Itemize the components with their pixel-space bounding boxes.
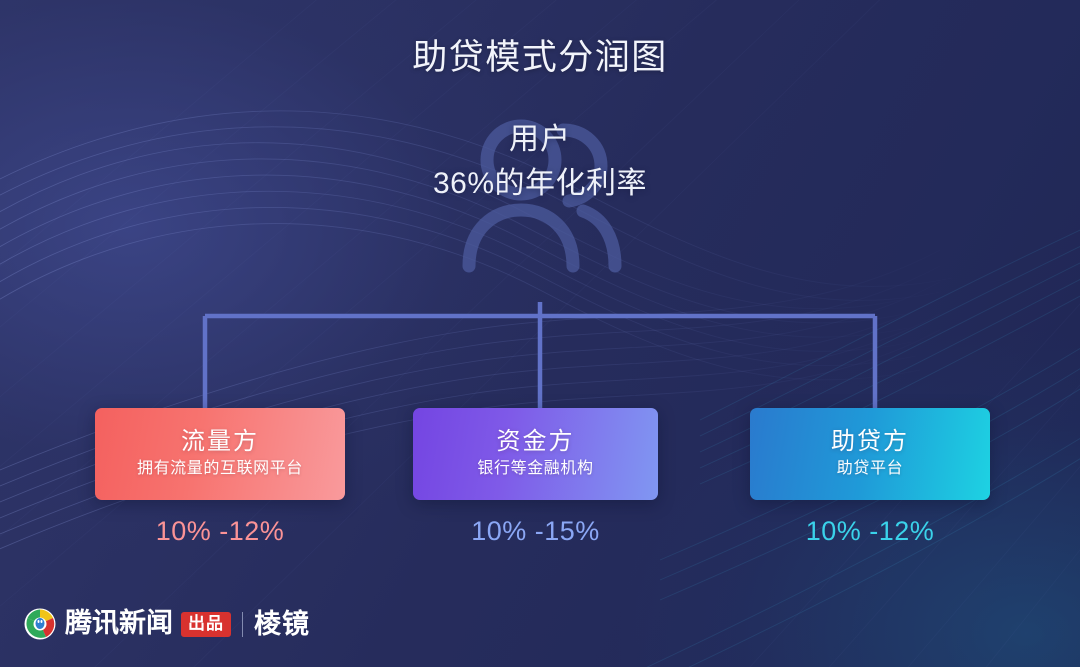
- node-subtitle: 助贷平台: [837, 457, 903, 481]
- user-node: 用户 36%的年化利率: [0, 118, 1080, 206]
- node-share: 10% -12%: [95, 516, 345, 547]
- node-subtitle: 拥有流量的互联网平台: [137, 457, 303, 481]
- node-title: 助贷方: [831, 427, 909, 457]
- footer-branding: 腾讯新闻 出品 棱镜: [24, 604, 310, 644]
- tree-connector: [0, 290, 1080, 420]
- node-loan-facilitator[interactable]: 助贷方 助贷平台 10% -12%: [750, 408, 990, 547]
- column-name: 棱镜: [254, 608, 310, 640]
- infographic-canvas: 助贷模式分润图 用户 36%的年化利率 流量方 拥有流量的互联网平台: [0, 0, 1080, 667]
- node-share: 10% -15%: [413, 516, 658, 547]
- user-rate: 36%的年化利率: [0, 162, 1080, 206]
- user-label: 用户: [0, 118, 1080, 162]
- node-share: 10% -12%: [750, 516, 990, 547]
- node-traffic[interactable]: 流量方 拥有流量的互联网平台 10% -12%: [95, 408, 345, 547]
- node-card[interactable]: 助贷方 助贷平台: [750, 408, 990, 500]
- node-subtitle: 银行等金融机构: [477, 457, 593, 481]
- column-label: 棱镜: [254, 609, 310, 639]
- node-row: 流量方 拥有流量的互联网平台 10% -12% 资金方 银行等金融机构 10% …: [0, 408, 1080, 553]
- brand-name: 腾讯新闻: [65, 608, 173, 640]
- page-title: 助贷模式分润图: [0, 37, 1080, 79]
- node-funding[interactable]: 资金方 银行等金融机构 10% -15%: [413, 408, 658, 547]
- node-title: 资金方: [497, 427, 575, 457]
- footer-divider: [242, 612, 243, 637]
- node-card[interactable]: 资金方 银行等金融机构: [413, 408, 658, 500]
- tencent-news-logo: [24, 608, 56, 640]
- produced-badge: 出品: [181, 612, 231, 637]
- node-title: 流量方: [181, 427, 259, 457]
- node-card[interactable]: 流量方 拥有流量的互联网平台: [95, 408, 345, 500]
